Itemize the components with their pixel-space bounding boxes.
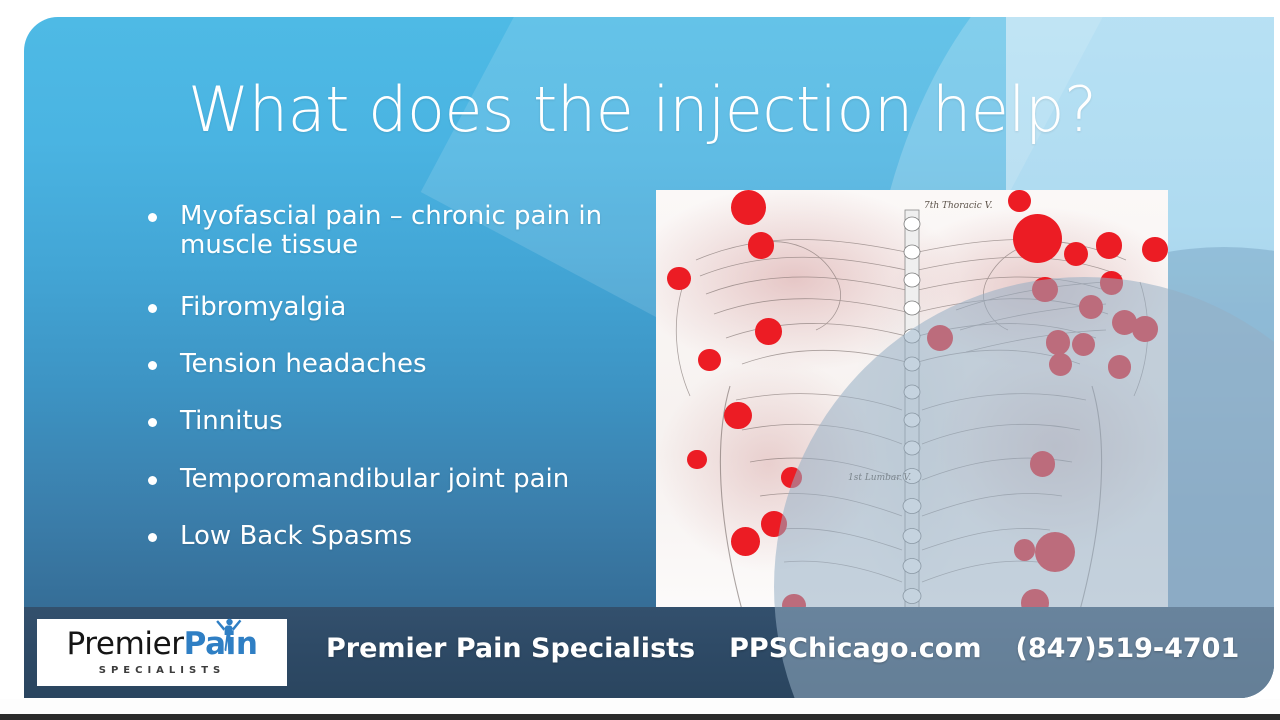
list-item-label: Tinnitus	[180, 406, 283, 436]
trigger-point-marker	[755, 318, 782, 345]
trigger-point-marker	[731, 190, 766, 225]
anatomy-label-thoracic: 7th Thoracic V.	[924, 201, 993, 211]
trigger-point-marker	[731, 527, 760, 556]
logo-subtitle: SPECIALISTS	[99, 665, 225, 676]
trigger-point-marker	[1096, 232, 1123, 259]
list-item: Temporomandibular joint pain	[120, 465, 660, 494]
footer-bar: PremierPain SPECIALISTS Premier Pain Spe…	[24, 607, 1274, 698]
list-item: Low Back Spasms	[120, 522, 660, 551]
bullet-dot-icon	[148, 476, 157, 485]
trigger-point-marker	[667, 267, 691, 291]
footer-website[interactable]: PPSChicago.com	[729, 633, 981, 664]
trigger-point-marker	[748, 232, 775, 259]
list-item-label: Low Back Spasms	[180, 521, 412, 551]
footer-practice-name: Premier Pain Specialists	[326, 633, 695, 664]
trigger-point-marker	[1013, 214, 1062, 263]
bullet-dot-icon	[148, 533, 157, 542]
list-item: Myofascial pain – chronic pain in muscle…	[120, 202, 660, 260]
footer-phone[interactable]: (847)519-4701	[1016, 633, 1240, 664]
bullet-dot-icon	[148, 418, 157, 427]
list-item-label: Myofascial pain – chronic pain in muscle…	[180, 201, 602, 260]
list-item: Tinnitus	[120, 407, 660, 436]
condition-list: Myofascial pain – chronic pain in muscle…	[120, 202, 660, 579]
logo-word-premier: Premier	[66, 626, 183, 662]
list-item-label: Temporomandibular joint pain	[180, 464, 569, 494]
viewer-bottom-bar	[0, 714, 1280, 720]
trigger-point-marker	[1008, 190, 1031, 212]
list-item: Fibromyalgia	[120, 293, 660, 322]
bullet-dot-icon	[148, 304, 157, 313]
logo-wordmark: PremierPain	[66, 629, 257, 660]
bullet-dot-icon	[148, 213, 157, 222]
presentation-slide: What does the injection help? Myofascial…	[24, 17, 1274, 698]
slide-canvas: What does the injection help? Myofascial…	[0, 0, 1280, 720]
trigger-point-marker	[724, 402, 752, 430]
slide-underline-gap	[0, 699, 1280, 714]
list-item-label: Fibromyalgia	[180, 292, 346, 322]
list-item-label: Tension headaches	[180, 349, 427, 379]
trigger-point-marker	[687, 450, 706, 469]
list-item: Tension headaches	[120, 350, 660, 379]
company-logo: PremierPain SPECIALISTS	[37, 619, 287, 686]
footer-contact-info: Premier Pain Specialists PPSChicago.com …	[326, 633, 1239, 664]
bullet-dot-icon	[148, 361, 157, 370]
slide-title: What does the injection help?	[188, 77, 1148, 142]
person-jumping-icon	[214, 615, 244, 655]
